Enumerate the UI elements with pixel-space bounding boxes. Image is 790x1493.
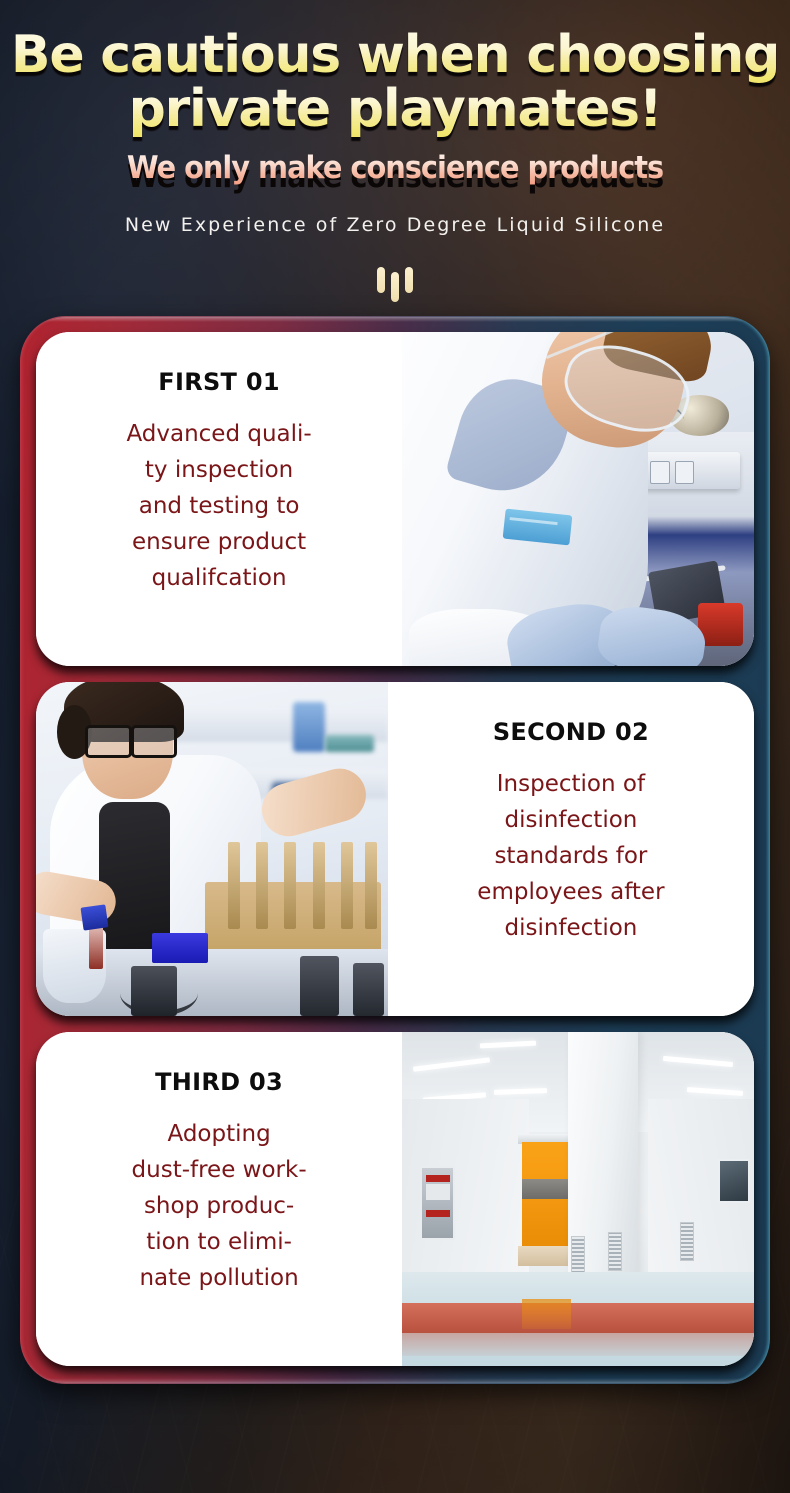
photo2-blue-cap (80, 904, 108, 931)
photo3-air-vent (608, 1232, 622, 1271)
photo3-air-vent (571, 1236, 585, 1275)
header: Be cautious when choosing Be cautious wh… (0, 0, 790, 300)
photo3-window (718, 1159, 750, 1203)
divider-bar-left (377, 267, 385, 293)
photo2-dark-object (300, 956, 339, 1016)
title-line-2-text: private playmates! (129, 80, 662, 138)
photo3-cabinet-sign (426, 1210, 450, 1217)
photo2-eyeglasses (85, 725, 176, 752)
photo2-teal-bottle (325, 735, 374, 752)
photo2-test-tube (256, 842, 268, 929)
card-media-first (402, 332, 754, 666)
page-tagline: New Experience of Zero Degree Liquid Sil… (0, 214, 790, 236)
card-text-second: SECOND 02 Inspection of disinfection sta… (388, 682, 754, 1016)
chemist-photo (36, 682, 388, 1016)
subtitle-text: We only make conscience products (127, 150, 663, 186)
photo2-test-tube (365, 842, 377, 929)
lab-technician-photo (402, 332, 754, 666)
cards-container: FIRST 01 Advanced quali- ty inspection a… (36, 332, 754, 1368)
photo3-threshold (518, 1246, 574, 1266)
divider-bar-middle (391, 272, 399, 302)
card-body-third: Adopting dust-free work- shop produc- ti… (52, 1116, 386, 1296)
three-bars-icon (365, 266, 425, 300)
card-body-first: Advanced quali- ty inspection and testin… (52, 416, 386, 596)
photo1-instrument-box (650, 461, 670, 485)
card-media-third (402, 1032, 754, 1366)
photo3-floor-stripe (402, 1303, 754, 1333)
photo2-dark-object (131, 966, 177, 1016)
photo3-cabinet-panel (426, 1184, 450, 1199)
photo3-door-gap (522, 1179, 568, 1199)
photo3-stripe-reflection (402, 1333, 754, 1356)
photo2-test-tube (228, 842, 240, 929)
title-line-1: Be cautious when choosing Be cautious wh… (8, 26, 782, 84)
photo2-test-tube (284, 842, 296, 929)
card-title-first: FIRST 01 (52, 368, 386, 396)
photo2-test-tube (313, 842, 325, 929)
page-root: Be cautious when choosing Be cautious wh… (0, 0, 790, 1384)
feature-card-first[interactable]: FIRST 01 Advanced quali- ty inspection a… (36, 332, 754, 666)
photo2-dark-object (353, 963, 385, 1016)
divider-bar-right (405, 267, 413, 293)
cards-frame: FIRST 01 Advanced quali- ty inspection a… (20, 316, 770, 1384)
photo1-instrument-box (675, 461, 695, 485)
card-text-third: THIRD 03 Adopting dust-free work- shop p… (36, 1032, 402, 1366)
page-title: Be cautious when choosing Be cautious wh… (8, 26, 782, 138)
feature-card-third[interactable]: THIRD 03 Adopting dust-free work- shop p… (36, 1032, 754, 1366)
card-text-first: FIRST 01 Advanced quali- ty inspection a… (36, 332, 402, 666)
card-media-second (36, 682, 388, 1016)
photo3-cabinet-sign (426, 1175, 450, 1182)
photo3-door-reflection (522, 1299, 571, 1329)
title-line-1-text: Be cautious when choosing (11, 26, 779, 84)
photo2-test-tube (341, 842, 353, 929)
page-subtitle: We only make conscience products We only… (28, 150, 763, 186)
photo3-wall-cabinet (420, 1166, 456, 1240)
title-line-2: private playmates! private playmates! (8, 80, 782, 138)
photo2-blue-label (152, 933, 208, 963)
photo3-air-vent (680, 1222, 694, 1261)
card-title-third: THIRD 03 (52, 1068, 386, 1096)
photo2-blue-bottle (293, 702, 325, 752)
cleanroom-photo (402, 1032, 754, 1366)
card-body-second: Inspection of disinfection standards for… (404, 766, 738, 946)
feature-card-second[interactable]: SECOND 02 Inspection of disinfection sta… (36, 682, 754, 1016)
card-title-second: SECOND 02 (404, 718, 738, 746)
